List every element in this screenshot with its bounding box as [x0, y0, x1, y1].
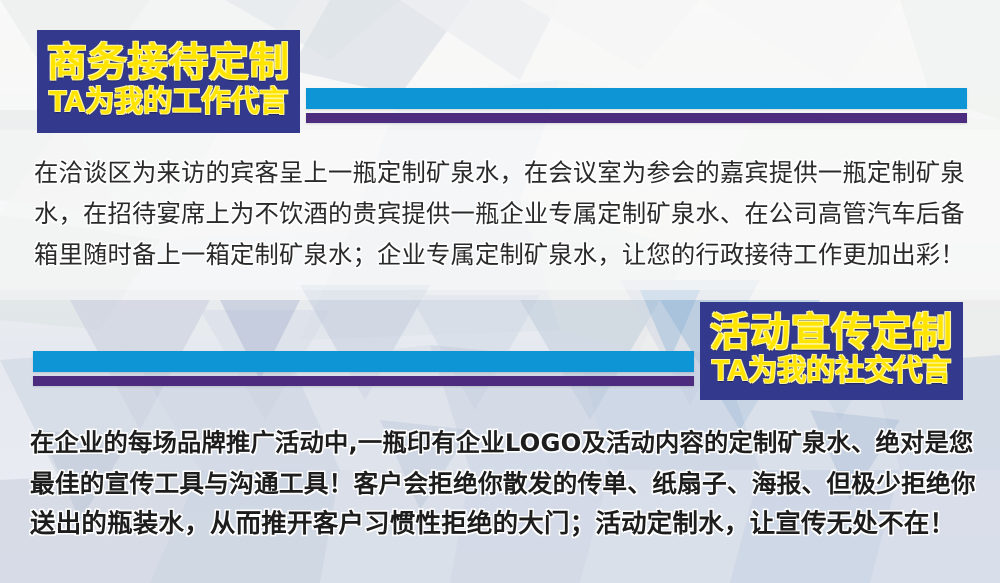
body-line: 在企业的每场品牌推广活动中,一瓶印有企业LOGO及活动内容的定制矿泉水、绝对是您 [30, 422, 976, 463]
body-line: 在洽谈区为来访的宾客呈上一瓶定制矿泉水，在会议室为参会的嘉宾提供一瓶定制矿泉 [34, 152, 970, 193]
section-1-accent-bar-blue [306, 88, 967, 109]
body-line: 最佳的宣传工具与沟通工具！客户会拒绝你散发的传单、纸扇子、海报、但极少拒绝你 [30, 463, 976, 504]
section-1-accent-bar-purple [306, 113, 967, 123]
poster-canvas: 商务接待定制 TA为我的工作代言 在洽谈区为来访的宾客呈上一瓶定制矿泉水，在会议… [0, 0, 1000, 583]
section-1-body-copy: 在洽谈区为来访的宾客呈上一瓶定制矿泉水，在会议室为参会的嘉宾提供一瓶定制矿泉 水… [34, 152, 970, 275]
body-line: 送出的瓶装水，从而推开客户习惯性拒绝的大门；活动定制水，让宣传无处不在！ [30, 504, 976, 545]
section-2-accent-bar-purple [33, 376, 694, 386]
body-line: 箱里随时备上一箱定制矿泉水；企业专属定制矿泉水，让您的行政接待工作更加出彩！ [34, 234, 970, 275]
section-2-body-copy: 在企业的每场品牌推广活动中,一瓶印有企业LOGO及活动内容的定制矿泉水、绝对是您… [30, 422, 976, 545]
section-title-sub: TA为我的工作代言 [49, 86, 289, 119]
section-title-main: 活动宣传定制 [710, 312, 953, 355]
section-title-sub: TA为我的社交代言 [712, 355, 952, 388]
section-title-business-reception: 商务接待定制 TA为我的工作代言 [37, 30, 300, 133]
section-2-accent-bar-blue [33, 351, 694, 372]
section-title-event-promotion: 活动宣传定制 TA为我的社交代言 [700, 302, 963, 400]
section-title-main: 商务接待定制 [47, 42, 290, 85]
body-line: 水，在招待宴席上为不饮酒的贵宾提供一瓶企业专属定制矿泉水、在公司高管汽车后备 [34, 193, 970, 234]
